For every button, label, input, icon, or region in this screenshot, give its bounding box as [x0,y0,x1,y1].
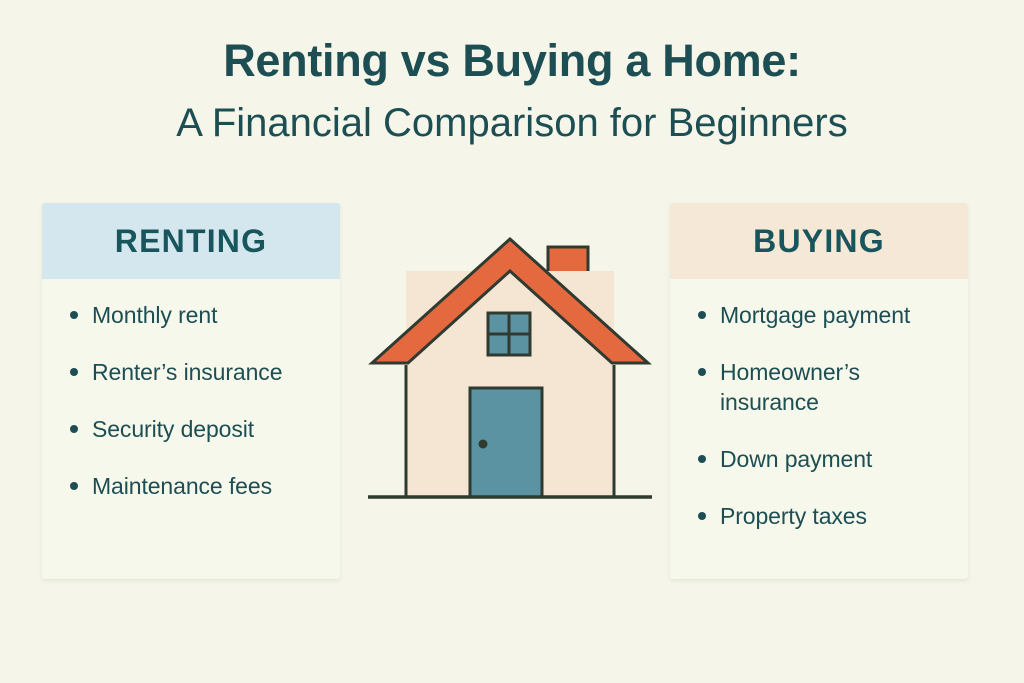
list-item-label: Monthly rent [92,301,217,331]
page-subtitle: A Financial Comparison for Beginners [0,99,1024,147]
page-header: Renting vs Buying a Home: A Financial Co… [0,34,1024,147]
bullet-dot-icon [70,482,78,490]
bullet-dot-icon [70,311,78,319]
list-item: Maintenance fees [70,472,320,502]
bullet-dot-icon [698,368,706,376]
list-item-label: Mortgage payment [720,301,910,331]
card-renting-body: Monthly rent Renter’s insurance Security… [42,279,340,522]
list-item: Monthly rent [70,301,320,331]
bullet-dot-icon [698,512,706,520]
card-renting-title: RENTING [115,223,267,260]
list-item-label: Down payment [720,445,872,475]
list-item: Security deposit [70,415,320,445]
infographic-canvas: Renting vs Buying a Home: A Financial Co… [0,0,1024,683]
house-illustration [360,225,660,515]
card-renting: RENTING Monthly rent Renter’s insurance … [42,203,340,579]
list-item-label: Property taxes [720,502,867,532]
list-item-label: Security deposit [92,415,254,445]
card-buying-body: Mortgage payment Homeowner’s insurance D… [670,279,968,551]
renting-list: Monthly rent Renter’s insurance Security… [70,301,320,502]
list-item: Mortgage payment [698,301,948,331]
bullet-dot-icon [698,311,706,319]
list-item-label: Renter’s insurance [92,358,282,388]
page-title: Renting vs Buying a Home: [0,34,1024,87]
buying-list: Mortgage payment Homeowner’s insurance D… [698,301,948,531]
doorknob-icon [479,440,488,449]
card-renting-header: RENTING [42,203,340,279]
card-buying-title: BUYING [753,223,885,260]
list-item: Down payment [698,445,948,475]
list-item: Renter’s insurance [70,358,320,388]
card-buying: BUYING Mortgage payment Homeowner’s insu… [670,203,968,579]
bullet-dot-icon [698,455,706,463]
bullet-dot-icon [70,368,78,376]
list-item: Homeowner’s insurance [698,358,948,418]
card-buying-header: BUYING [670,203,968,279]
list-item: Property taxes [698,502,948,532]
list-item-label: Maintenance fees [92,472,272,502]
list-item-label: Homeowner’s insurance [720,358,948,418]
house-icon [360,225,660,515]
bullet-dot-icon [70,425,78,433]
